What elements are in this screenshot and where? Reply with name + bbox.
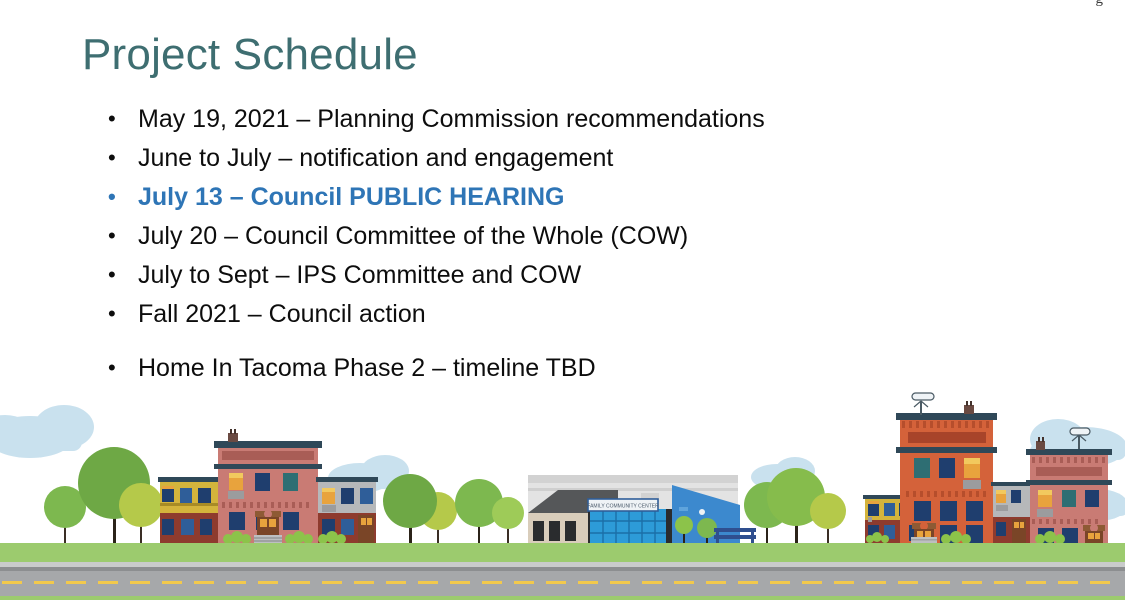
road-centerline: [2, 581, 1110, 584]
bullet-marker-icon: •: [108, 298, 138, 330]
bullet-marker-icon: •: [108, 259, 138, 291]
page-title: Project Schedule: [82, 30, 418, 80]
curb: [0, 567, 1125, 571]
bullet-marker-icon: •: [108, 103, 138, 135]
list-item-label: May 19, 2021 – Planning Commission recom…: [138, 103, 765, 135]
list-item: • July 20 – Council Committee of the Who…: [108, 220, 1008, 259]
list-item-highlighted: • July 13 – Council PUBLIC HEARING: [108, 181, 1008, 220]
rowhouse-gray: [316, 477, 378, 544]
road: [0, 571, 1125, 600]
community-center-building: FAMILY COMMUNITY CENTER: [528, 475, 756, 543]
bullet-marker-icon: •: [108, 181, 138, 213]
list-item-label: June to July – notification and engageme…: [138, 142, 613, 174]
rowhouse-pink-center: [214, 429, 322, 544]
rowhouse-gray-right: [991, 482, 1032, 543]
streetscape-svg: FAMILY COMMUNITY CENTER: [0, 385, 1125, 600]
list-item-label: Fall 2021 – Council action: [138, 298, 426, 330]
bullet-marker-icon: •: [108, 220, 138, 252]
lower-grass: [0, 596, 1125, 600]
neighborhood-illustration: FAMILY COMMUNITY CENTER: [0, 385, 1125, 600]
list-item: • July to Sept – IPS Committee and COW: [108, 259, 1008, 298]
list-item-label: July 20 – Council Committee of the Whole…: [138, 220, 688, 252]
list-item: • June to July – notification and engage…: [108, 142, 1008, 181]
list-item-label: July 13 – Council PUBLIC HEARING: [138, 181, 564, 213]
community-center-sign-text: FAMILY COMMUNITY CENTER: [587, 504, 659, 510]
bullet-list: • May 19, 2021 – Planning Commission rec…: [108, 103, 1008, 391]
bullet-marker-icon: •: [108, 352, 138, 384]
list-item: • Fall 2021 – Council action: [108, 298, 1008, 337]
bullet-marker-icon: •: [108, 142, 138, 174]
list-item: • May 19, 2021 – Planning Commission rec…: [108, 103, 1008, 142]
rowhouse-yellow: [158, 477, 220, 543]
stray-glyph: g: [1096, 0, 1104, 8]
slide-canvas: g Project Schedule • May 19, 2021 – Plan…: [0, 0, 1125, 600]
list-item-label: July to Sept – IPS Committee and COW: [138, 259, 581, 291]
rowhouse-orange-tall: [896, 393, 997, 544]
grass-strip: [0, 543, 1125, 563]
list-item-label: Home In Tacoma Phase 2 – timeline TBD: [138, 352, 596, 384]
